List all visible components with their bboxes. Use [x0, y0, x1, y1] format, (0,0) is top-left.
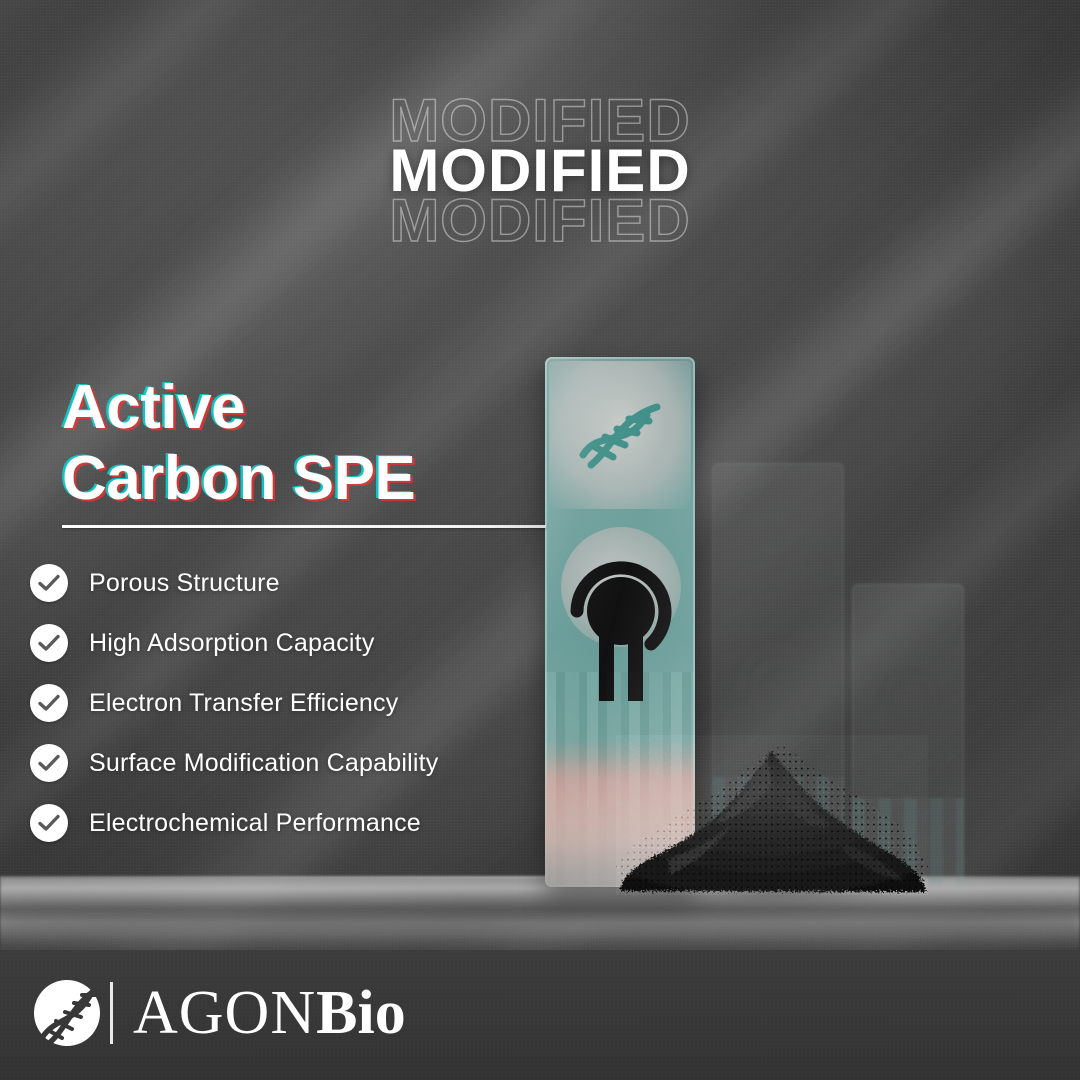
- list-item: Electron Transfer Efficiency: [30, 673, 590, 733]
- footer-bar: AGON Bio: [0, 950, 1080, 1080]
- brand-logo: AGON Bio: [28, 974, 406, 1052]
- check-circle-icon: [30, 804, 68, 842]
- list-item: Electrochemical Performance: [30, 793, 590, 853]
- feature-label: Electron Transfer Efficiency: [89, 689, 398, 718]
- headline-ghost-bottom: MODIFIED: [389, 196, 690, 246]
- feature-list: Porous Structure High Adsorption Capacit…: [30, 553, 590, 853]
- page-title-line-2: Carbon SPE: [62, 443, 582, 514]
- feature-label: Surface Modification Capability: [89, 749, 438, 778]
- check-circle-icon: [30, 684, 68, 722]
- feature-label: Porous Structure: [89, 569, 280, 598]
- check-circle-icon: [30, 624, 68, 662]
- list-item: High Adsorption Capacity: [30, 613, 590, 673]
- feature-label: Electrochemical Performance: [89, 809, 421, 838]
- brand-name: AGON Bio: [133, 982, 406, 1044]
- feature-label: High Adsorption Capacity: [89, 629, 375, 658]
- logo-divider: [110, 982, 113, 1044]
- activated-carbon-powder-pile: [616, 735, 928, 895]
- check-circle-icon: [30, 744, 68, 782]
- list-item: Porous Structure: [30, 553, 590, 613]
- page-title: Active Carbon SPE: [62, 372, 582, 514]
- brand-name-bold: Bio: [316, 982, 406, 1044]
- page-title-line-1: Active: [62, 372, 582, 443]
- headline-banner: MODIFIED MODIFIED MODIFIED: [0, 96, 1080, 226]
- brand-name-light: AGON: [133, 982, 316, 1044]
- title-divider-rule: [62, 525, 546, 528]
- list-item: Surface Modification Capability: [30, 733, 590, 793]
- poster-canvas: MODIFIED MODIFIED MODIFIED Active Carbon…: [0, 0, 1080, 1080]
- dna-circle-logo-icon: [28, 974, 106, 1052]
- check-circle-icon: [30, 564, 68, 602]
